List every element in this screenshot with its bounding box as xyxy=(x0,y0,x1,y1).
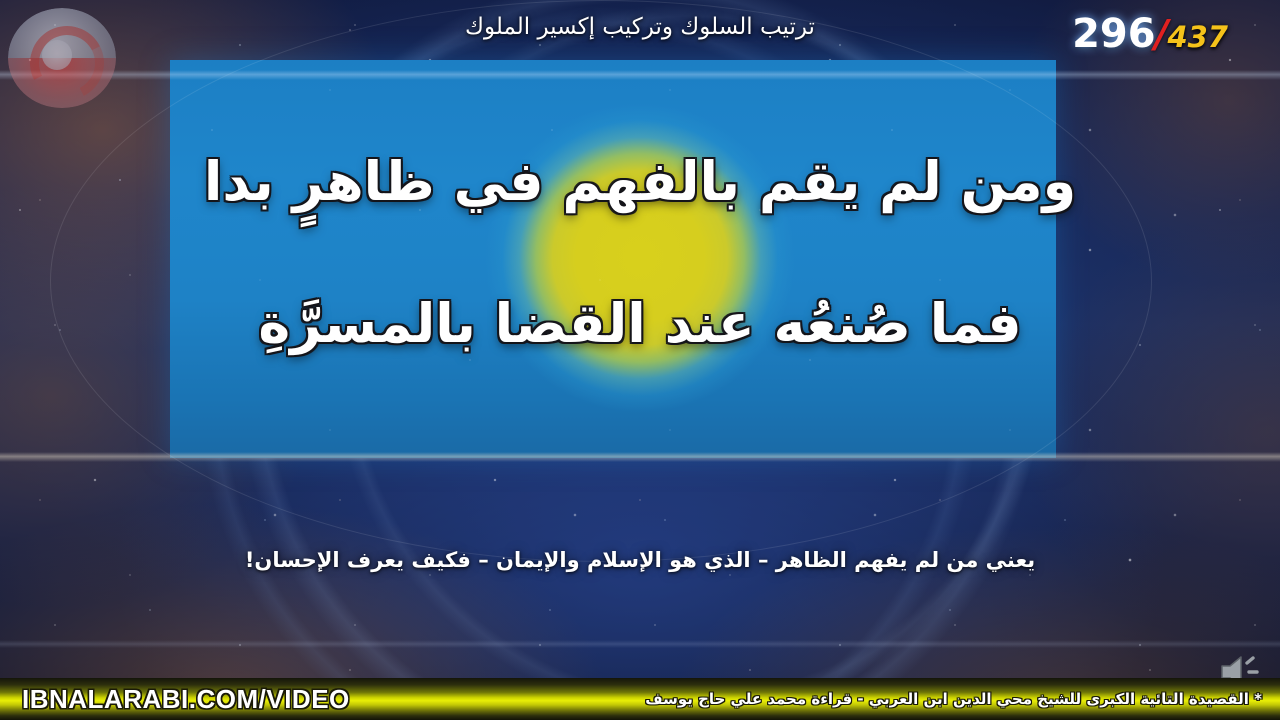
video-slide: ترتيب السلوك وتركيب إكسير الملوك 296/437… xyxy=(0,0,1280,720)
verse-line-1: ومن لم يقم بالفهم في ظاهرٍ بدا xyxy=(0,150,1280,213)
verse-panel xyxy=(170,60,1056,458)
panel-starfield xyxy=(170,60,1056,458)
counter-current: 296 xyxy=(1072,11,1156,57)
verse-explanation: يعني من لم يفهم الظاهر – الذي هو الإسلام… xyxy=(0,548,1280,572)
site-url-label[interactable]: IBNALARABI.COM/VIDEO xyxy=(22,684,350,715)
verse-line-2: فما صُنعُه عند القضا بالمسرَّةِ xyxy=(0,292,1280,355)
verse-counter: 296/437 xyxy=(1072,14,1228,54)
footer-bar: IBNALARABI.COM/VIDEO * القصيدة التائية ا… xyxy=(0,678,1280,720)
credit-label: * القصيدة التائية الكبرى للشيخ محي الدين… xyxy=(645,690,1262,708)
counter-total: 437 xyxy=(1167,20,1228,54)
logo-spiral-core xyxy=(42,40,72,70)
